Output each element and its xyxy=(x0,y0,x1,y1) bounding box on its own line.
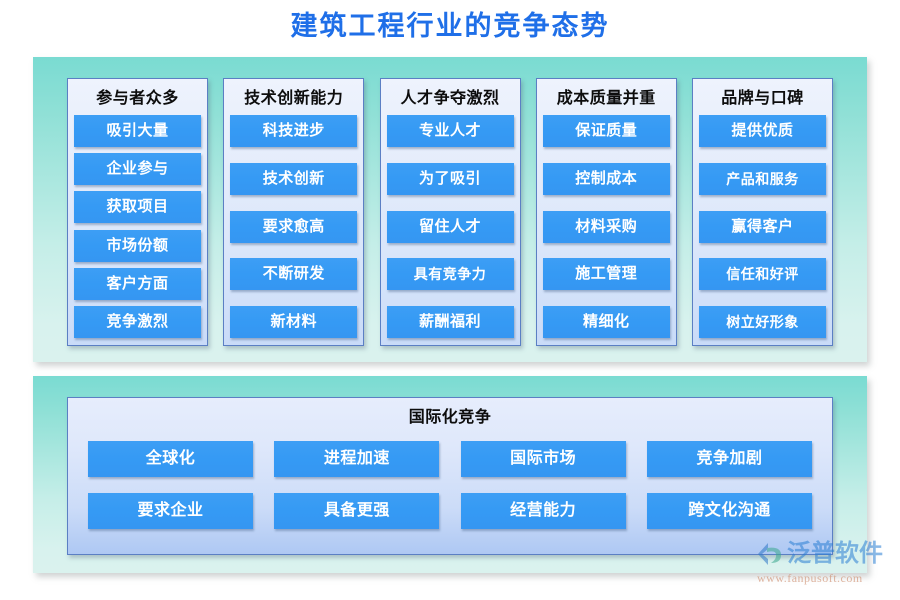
bottom-panel: 国际化竞争 全球化 进程加速 国际市场 竞争加剧 要求企业 具备更强 经营能力 … xyxy=(33,376,867,573)
column-card-3[interactable]: 人才争夺激烈 专业人才 为了吸引 留住人才 具有竞争力 薪酬福利 xyxy=(380,78,521,346)
column-items: 专业人才 为了吸引 留住人才 具有竞争力 薪酬福利 xyxy=(387,115,514,338)
international-competition-card[interactable]: 国际化竞争 全球化 进程加速 国际市场 竞争加剧 要求企业 具备更强 经营能力 … xyxy=(67,397,833,555)
column-items: 吸引大量 企业参与 获取项目 市场份额 客户方面 竞争激烈 xyxy=(74,115,201,338)
column-title: 成本质量并重 xyxy=(557,85,656,115)
bottom-row-1: 全球化 进程加速 国际市场 竞争加剧 xyxy=(88,441,812,477)
bottom-item[interactable]: 国际市场 xyxy=(461,441,626,477)
column-title: 人才争夺激烈 xyxy=(400,85,499,115)
item-box[interactable]: 技术创新 xyxy=(230,163,357,195)
item-box[interactable]: 精细化 xyxy=(543,306,670,338)
item-box[interactable]: 要求愈高 xyxy=(230,211,357,243)
bottom-item[interactable]: 具备更强 xyxy=(274,493,439,529)
bottom-item[interactable]: 全球化 xyxy=(88,441,253,477)
watermark-url: www.fanpusoft.com xyxy=(757,571,895,586)
column-title: 参与者众多 xyxy=(96,85,179,115)
item-box[interactable]: 为了吸引 xyxy=(387,163,514,195)
column-title: 品牌与口碑 xyxy=(721,85,804,115)
item-box[interactable]: 控制成本 xyxy=(543,163,670,195)
item-box[interactable]: 专业人才 xyxy=(387,115,514,147)
column-items: 科技进步 技术创新 要求愈高 不断研发 新材料 xyxy=(230,115,357,338)
item-box[interactable]: 树立好形象 xyxy=(699,306,826,338)
page-title: 建筑工程行业的竞争态势 xyxy=(0,8,900,44)
columns-row: 参与者众多 吸引大量 企业参与 获取项目 市场份额 客户方面 竞争激烈 技术创新… xyxy=(67,78,833,346)
column-card-5[interactable]: 品牌与口碑 提供优质 产品和服务 赢得客户 信任和好评 树立好形象 xyxy=(692,78,833,346)
column-card-4[interactable]: 成本质量并重 保证质量 控制成本 材料采购 施工管理 精细化 xyxy=(536,78,677,346)
item-box[interactable]: 竞争激烈 xyxy=(74,306,201,338)
bottom-grid: 全球化 进程加速 国际市场 竞争加剧 要求企业 具备更强 经营能力 跨文化沟通 xyxy=(88,441,812,529)
column-card-1[interactable]: 参与者众多 吸引大量 企业参与 获取项目 市场份额 客户方面 竞争激烈 xyxy=(67,78,208,346)
item-box[interactable]: 施工管理 xyxy=(543,258,670,290)
item-box[interactable]: 保证质量 xyxy=(543,115,670,147)
item-box[interactable]: 企业参与 xyxy=(74,153,201,185)
item-box[interactable]: 提供优质 xyxy=(699,115,826,147)
bottom-row-2: 要求企业 具备更强 经营能力 跨文化沟通 xyxy=(88,493,812,529)
item-box[interactable]: 产品和服务 xyxy=(699,163,826,195)
item-box[interactable]: 薪酬福利 xyxy=(387,306,514,338)
item-box[interactable]: 新材料 xyxy=(230,306,357,338)
top-panel: 参与者众多 吸引大量 企业参与 获取项目 市场份额 客户方面 竞争激烈 技术创新… xyxy=(33,57,867,362)
item-box[interactable]: 赢得客户 xyxy=(699,211,826,243)
bottom-card-title: 国际化竞争 xyxy=(88,403,812,435)
item-box[interactable]: 吸引大量 xyxy=(74,115,201,147)
bottom-item[interactable]: 要求企业 xyxy=(88,493,253,529)
item-box[interactable]: 不断研发 xyxy=(230,258,357,290)
item-box[interactable]: 市场份额 xyxy=(74,230,201,262)
column-title: 技术创新能力 xyxy=(244,85,343,115)
item-box[interactable]: 留住人才 xyxy=(387,211,514,243)
bottom-item[interactable]: 跨文化沟通 xyxy=(647,493,812,529)
item-box[interactable]: 信任和好评 xyxy=(699,258,826,290)
item-box[interactable]: 获取项目 xyxy=(74,191,201,223)
item-box[interactable]: 科技进步 xyxy=(230,115,357,147)
column-items: 保证质量 控制成本 材料采购 施工管理 精细化 xyxy=(543,115,670,338)
bottom-item[interactable]: 经营能力 xyxy=(461,493,626,529)
column-card-2[interactable]: 技术创新能力 科技进步 技术创新 要求愈高 不断研发 新材料 xyxy=(223,78,364,346)
item-box[interactable]: 客户方面 xyxy=(74,268,201,300)
item-box[interactable]: 材料采购 xyxy=(543,211,670,243)
bottom-item[interactable]: 竞争加剧 xyxy=(647,441,812,477)
column-items: 提供优质 产品和服务 赢得客户 信任和好评 树立好形象 xyxy=(699,115,826,338)
bottom-item[interactable]: 进程加速 xyxy=(274,441,439,477)
item-box[interactable]: 具有竞争力 xyxy=(387,258,514,290)
